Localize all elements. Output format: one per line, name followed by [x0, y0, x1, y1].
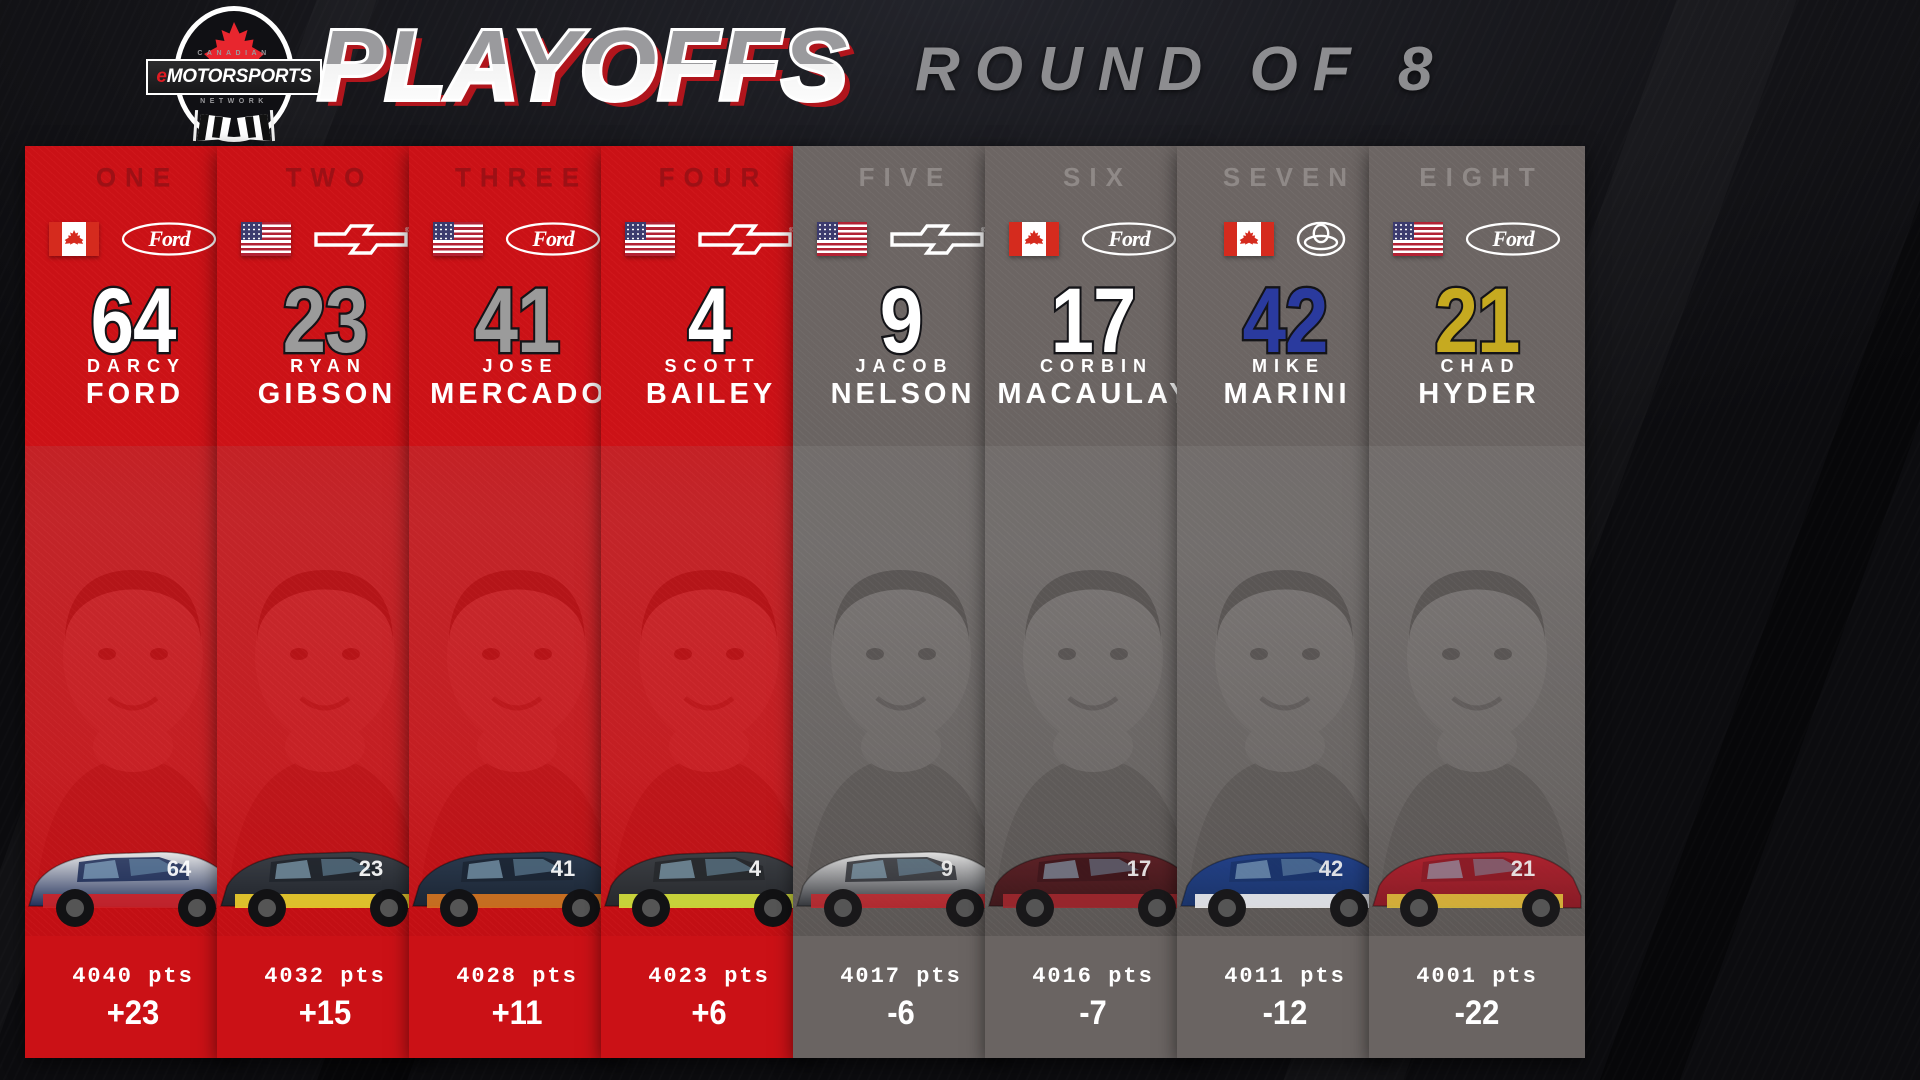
race-car: 4 [601, 810, 817, 930]
points-total: 4016 pts [1032, 964, 1154, 989]
driver-first-name: MIKE [1177, 356, 1393, 377]
usa-flag-icon [241, 222, 291, 256]
car-number: 42 [1177, 281, 1393, 359]
car-number: 21 [1369, 281, 1585, 359]
playoff-card-3[interactable]: THREE Ford 41 JOSE MERCADO 41 4028 pts [409, 146, 625, 1058]
ford-logo-icon: Ford [121, 221, 217, 257]
chevrolet-bowtie-icon: ® [889, 221, 985, 257]
svg-text:Ford: Ford [1107, 226, 1151, 251]
race-car-illustration: 42 [1177, 810, 1393, 930]
playoff-card-7[interactable]: SEVEN 42 MIKE MARINI 42 4011 pts [1177, 146, 1393, 1058]
points-differential: -22 [1455, 995, 1500, 1031]
badges-row: ® [217, 222, 433, 256]
race-car-illustration: 9 [793, 810, 1009, 930]
race-car-illustration: 23 [217, 810, 433, 930]
position-label: THREE [409, 162, 625, 193]
driver-last-name: HYDER [1369, 378, 1585, 411]
points-total: 4023 pts [648, 964, 770, 989]
driver-last-name: MERCADO [409, 378, 625, 411]
chevrolet-bowtie-icon: ® [313, 221, 409, 257]
position-label: SIX [985, 162, 1201, 193]
badges-row: Ford [409, 222, 625, 256]
race-car-illustration: 64 [25, 810, 241, 930]
points-differential: +23 [107, 995, 160, 1031]
points-footer: 4028 pts +11 [409, 936, 625, 1058]
race-car: 21 [1369, 810, 1585, 930]
playoff-card-2[interactable]: TWO ® 23 RYAN GIBSON 23 4032 pts [217, 146, 433, 1058]
driver-last-name: MACAULAY [985, 378, 1201, 411]
manufacturer-logo: ® [313, 222, 409, 256]
car-number: 64 [25, 281, 241, 359]
usa-flag-icon [817, 222, 867, 256]
race-car: 41 [409, 810, 625, 930]
car-number: 23 [217, 281, 433, 359]
driver-first-name: CORBIN [985, 356, 1201, 377]
driver-first-name: SCOTT [601, 356, 817, 377]
points-total: 4011 pts [1224, 964, 1346, 989]
car-number: 17 [985, 281, 1201, 359]
page-title-fill: PLAYOFFS [318, 16, 849, 114]
logo-top-text: CANADIAN [168, 50, 300, 57]
position-label: SEVEN [1177, 162, 1393, 193]
points-differential: -7 [1079, 995, 1107, 1031]
manufacturer-logo: Ford [121, 222, 217, 256]
checkered-flags-icon [191, 108, 277, 142]
manufacturer-logo [1296, 222, 1346, 256]
position-label: FIVE [793, 162, 1009, 193]
race-car-illustration: 21 [1369, 810, 1585, 930]
svg-text:9: 9 [941, 856, 953, 881]
manufacturer-logo: ® [889, 222, 985, 256]
toyota-logo-icon [1296, 221, 1346, 257]
position-label: FOUR [601, 162, 817, 193]
points-total: 4001 pts [1416, 964, 1538, 989]
position-label: EIGHT [1369, 162, 1585, 193]
driver-first-name: CHAD [1369, 356, 1585, 377]
race-car-illustration: 41 [409, 810, 625, 930]
manufacturer-logo: Ford [1465, 222, 1561, 256]
svg-text:17: 17 [1127, 856, 1151, 881]
car-number: 4 [601, 281, 817, 359]
page-title: PLAYOFFS PLAYOFFS [318, 16, 849, 114]
driver-last-name: BAILEY [601, 378, 817, 411]
points-total: 4040 pts [72, 964, 194, 989]
position-label: TWO [217, 162, 433, 193]
badges-row: ® [793, 222, 1009, 256]
emotorsports-logo: CANADIAN eMOTORSPORTS NETWORK [168, 4, 300, 144]
svg-text:Ford: Ford [1491, 226, 1535, 251]
driver-first-name: DARCY [25, 356, 241, 377]
points-footer: 4017 pts -6 [793, 936, 1009, 1058]
svg-text:42: 42 [1319, 856, 1343, 881]
chevrolet-bowtie-icon: ® [697, 221, 793, 257]
badges-row: Ford [1369, 222, 1585, 256]
driver-first-name: JACOB [793, 356, 1009, 377]
position-label: ONE [25, 162, 241, 193]
playoff-card-4[interactable]: FOUR ® 4 SCOTT BAILEY 4 4023 pts [601, 146, 817, 1058]
manufacturer-logo: ® [697, 222, 793, 256]
badges-row: ® [601, 222, 817, 256]
canada-flag-icon [49, 222, 99, 256]
car-number: 41 [409, 281, 625, 359]
driver-first-name: JOSE [409, 356, 625, 377]
badges-row: Ford [985, 222, 1201, 256]
badges-row: Ford [25, 222, 241, 256]
playoff-card-grid: ONE Ford 64 DARCY FORD 64 4040 pts [0, 146, 1920, 1066]
points-footer: 4016 pts -7 [985, 936, 1201, 1058]
points-total: 4032 pts [264, 964, 386, 989]
race-car: 23 [217, 810, 433, 930]
race-car: 9 [793, 810, 1009, 930]
driver-last-name: NELSON [793, 378, 1009, 411]
ford-logo-icon: Ford [1465, 221, 1561, 257]
ford-logo-icon: Ford [1081, 221, 1177, 257]
usa-flag-icon [625, 222, 675, 256]
driver-first-name: RYAN [217, 356, 433, 377]
points-differential: -6 [887, 995, 915, 1031]
points-total: 4028 pts [456, 964, 578, 989]
logo-brand-e: e [156, 66, 166, 87]
playoff-card-8[interactable]: EIGHT Ford 21 CHAD HYDER 21 4001 pts [1369, 146, 1585, 1058]
points-footer: 4001 pts -22 [1369, 936, 1585, 1058]
points-footer: 4032 pts +15 [217, 936, 433, 1058]
logo-ribbon: eMOTORSPORTS [146, 59, 322, 95]
race-car: 17 [985, 810, 1201, 930]
playoff-card-5[interactable]: FIVE ® 9 JACOB NELSON 9 4017 pts [793, 146, 1009, 1058]
svg-text:Ford: Ford [531, 226, 575, 251]
points-footer: 4011 pts -12 [1177, 936, 1393, 1058]
points-differential: +11 [492, 995, 543, 1031]
points-footer: 4023 pts +6 [601, 936, 817, 1058]
points-total: 4017 pts [840, 964, 962, 989]
race-car: 42 [1177, 810, 1393, 930]
svg-text:Ford: Ford [147, 226, 191, 251]
logo-brand-main: MOTORSPORTS [167, 66, 312, 87]
points-differential: +6 [691, 995, 726, 1031]
points-differential: +15 [299, 995, 352, 1031]
usa-flag-icon [1393, 222, 1443, 256]
round-label: ROUND OF 8 [915, 34, 1447, 105]
driver-last-name: GIBSON [217, 378, 433, 411]
svg-text:4: 4 [749, 856, 762, 881]
manufacturer-logo: Ford [505, 222, 601, 256]
playoff-card-6[interactable]: SIX Ford 17 CORBIN MACAULAY 17 4016 p [985, 146, 1201, 1058]
header: CANADIAN eMOTORSPORTS NETWORK PLAYOFFS P… [0, 0, 1920, 146]
usa-flag-icon [433, 222, 483, 256]
manufacturer-logo: Ford [1081, 222, 1177, 256]
ford-logo-icon: Ford [505, 221, 601, 257]
logo-bottom-text: NETWORK [168, 98, 300, 105]
badges-row [1177, 222, 1393, 256]
svg-text:23: 23 [359, 856, 383, 881]
driver-last-name: FORD [25, 378, 241, 411]
points-differential: -12 [1263, 995, 1308, 1031]
race-car: 64 [25, 810, 241, 930]
car-number: 9 [793, 281, 1009, 359]
svg-text:64: 64 [167, 856, 192, 881]
race-car-illustration: 4 [601, 810, 817, 930]
canada-flag-icon [1009, 222, 1059, 256]
canada-flag-icon [1224, 222, 1274, 256]
playoff-card-1[interactable]: ONE Ford 64 DARCY FORD 64 4040 pts [25, 146, 241, 1058]
race-car-illustration: 17 [985, 810, 1201, 930]
driver-last-name: MARINI [1177, 378, 1393, 411]
svg-text:21: 21 [1511, 856, 1535, 881]
points-footer: 4040 pts +23 [25, 936, 241, 1058]
svg-text:41: 41 [551, 856, 575, 881]
